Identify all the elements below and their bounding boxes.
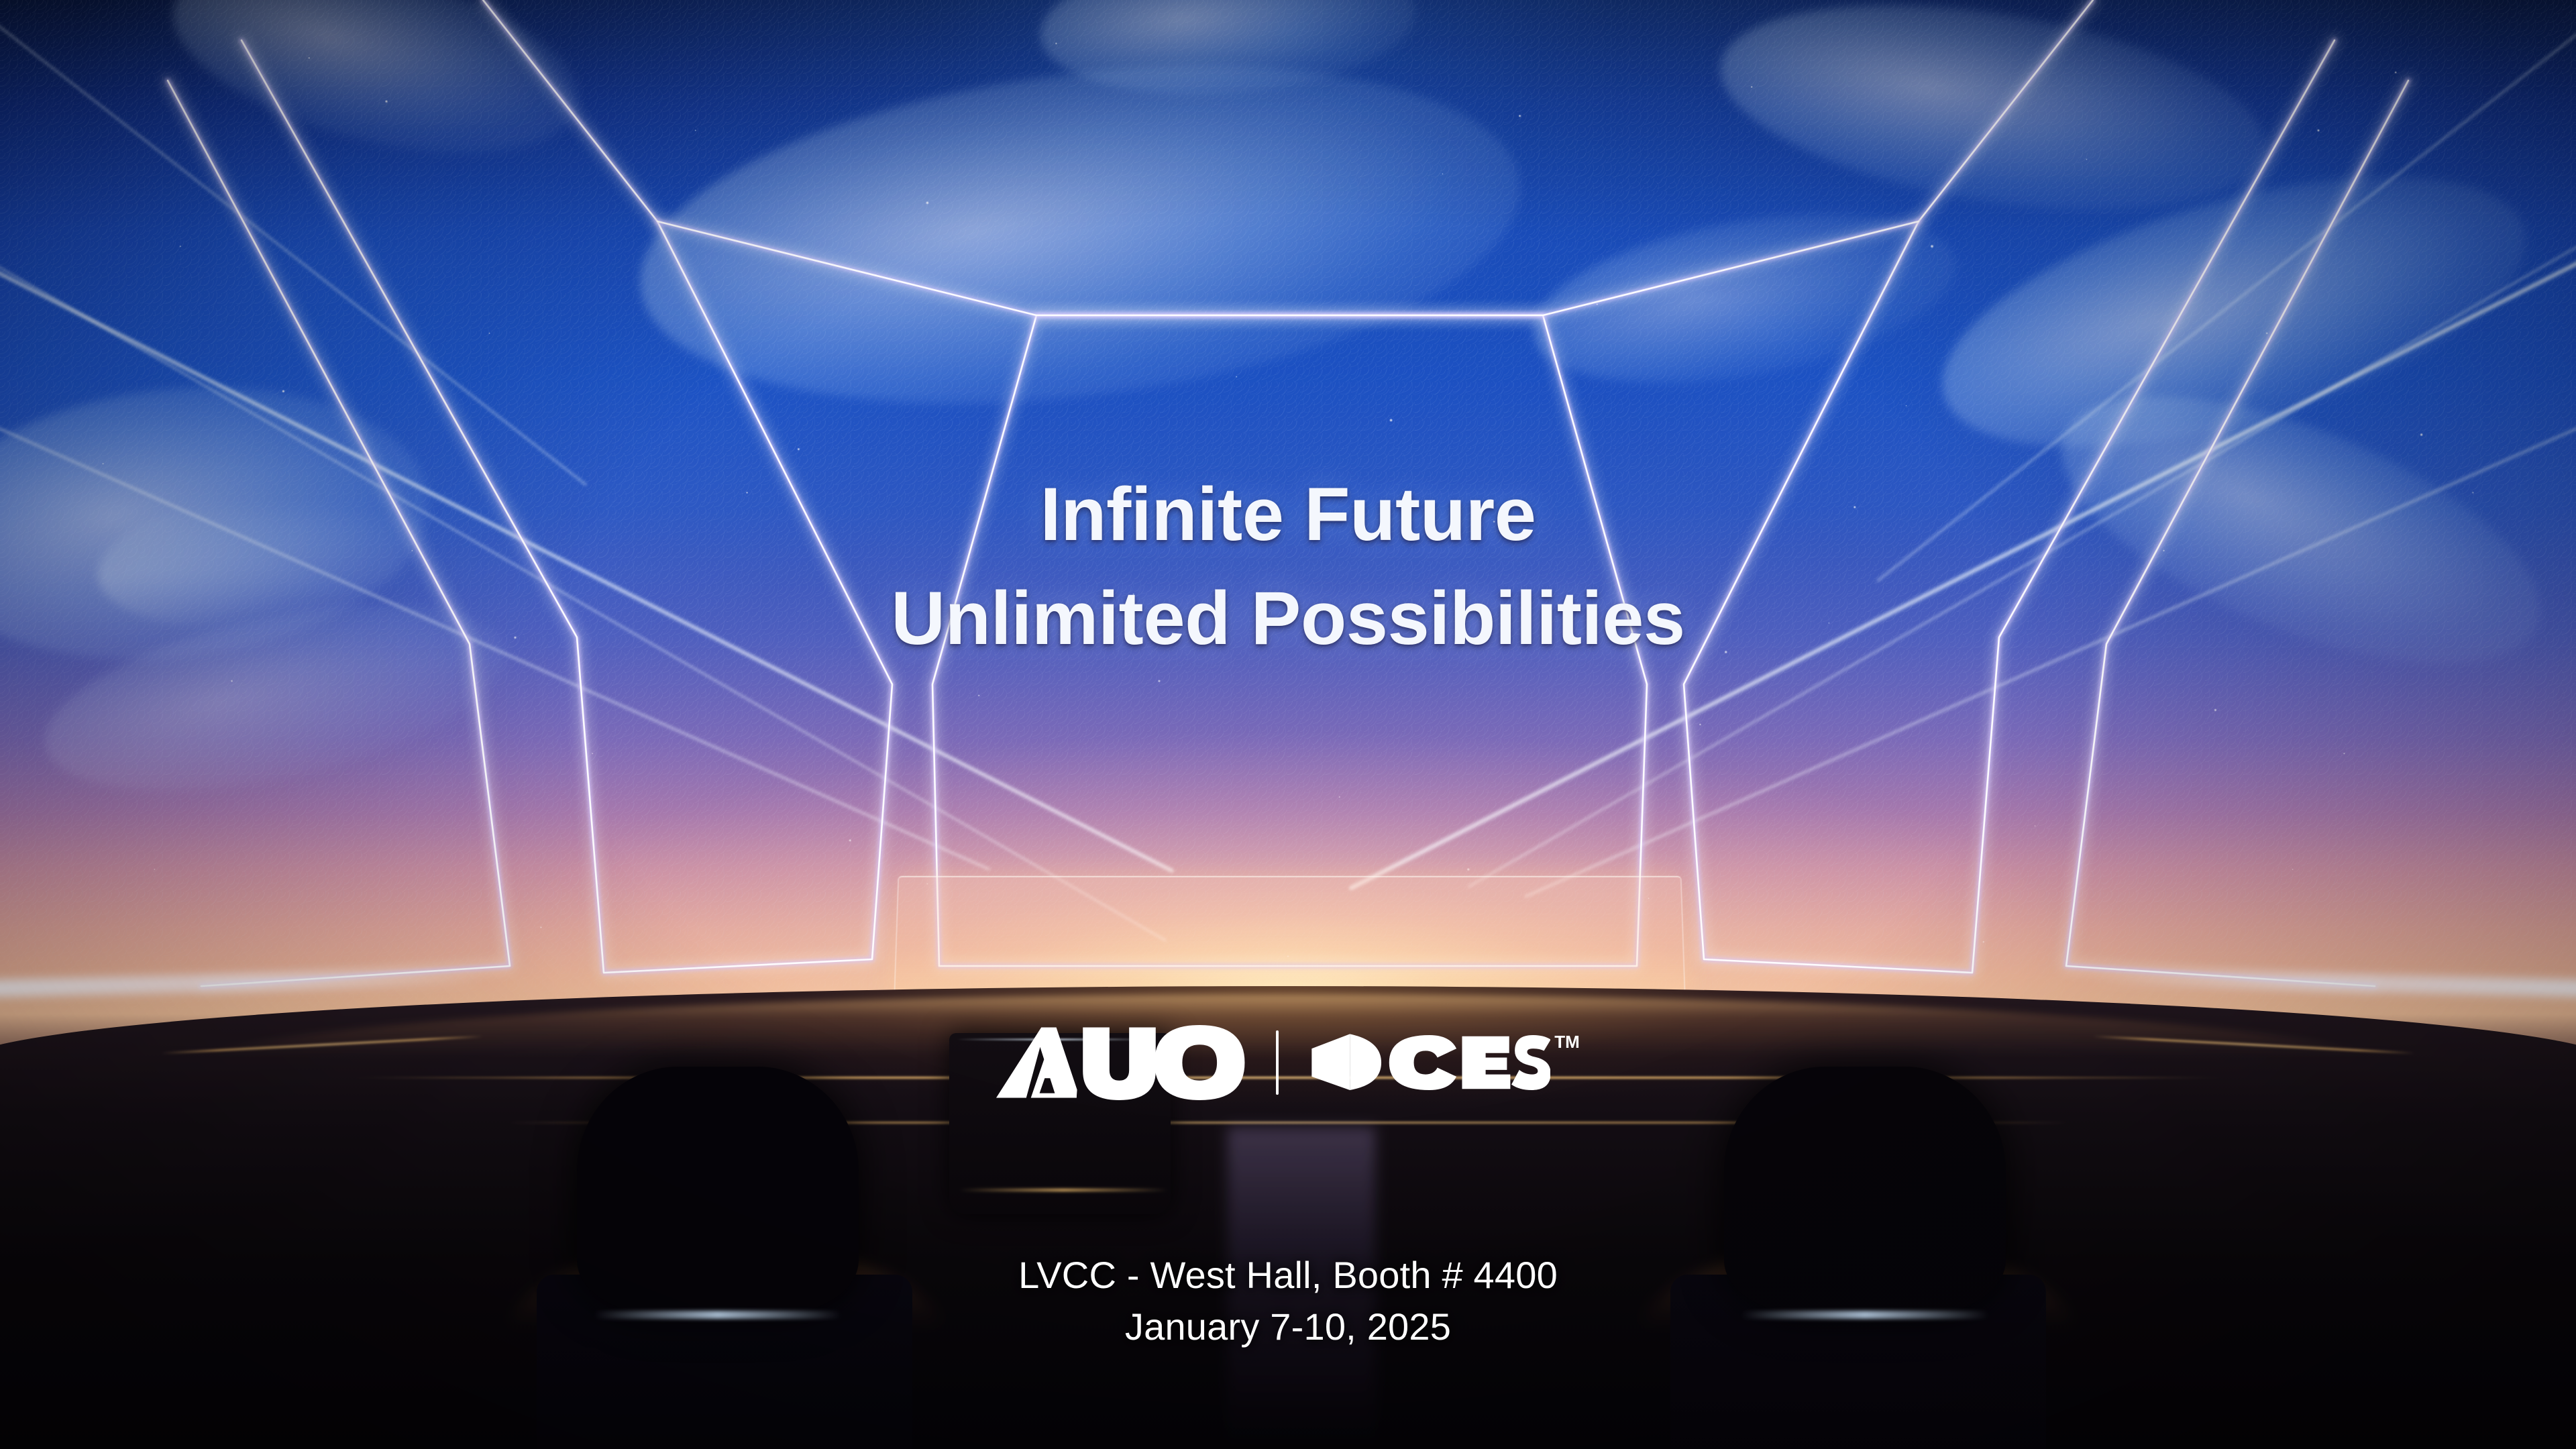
event-info-block: LVCC - West Hall, Booth # 4400 January 7… [0,1249,2576,1353]
headline-line-2: Unlimited Possibilities [0,567,2576,671]
console-amber-trim [959,1189,1167,1191]
ces-logo-wrap: CES TM [1309,1032,1580,1093]
event-venue: LVCC - West Hall, Booth # 4400 [0,1249,2576,1301]
auo-logo: AUO [996,1025,1244,1100]
ces-trademark-symbol: TM [1554,1033,1580,1051]
logo-divider [1276,1030,1279,1095]
logo-lockup: AUO CES TM [0,1025,2576,1100]
poster-canvas: Infinite Future Unlimited Possibilities … [0,0,2576,1449]
event-dates: January 7-10, 2025 [0,1301,2576,1352]
headline-line-1: Infinite Future [0,463,2576,567]
headline-block: Infinite Future Unlimited Possibilities [0,463,2576,670]
ces-logo: CES [1309,1032,1551,1093]
